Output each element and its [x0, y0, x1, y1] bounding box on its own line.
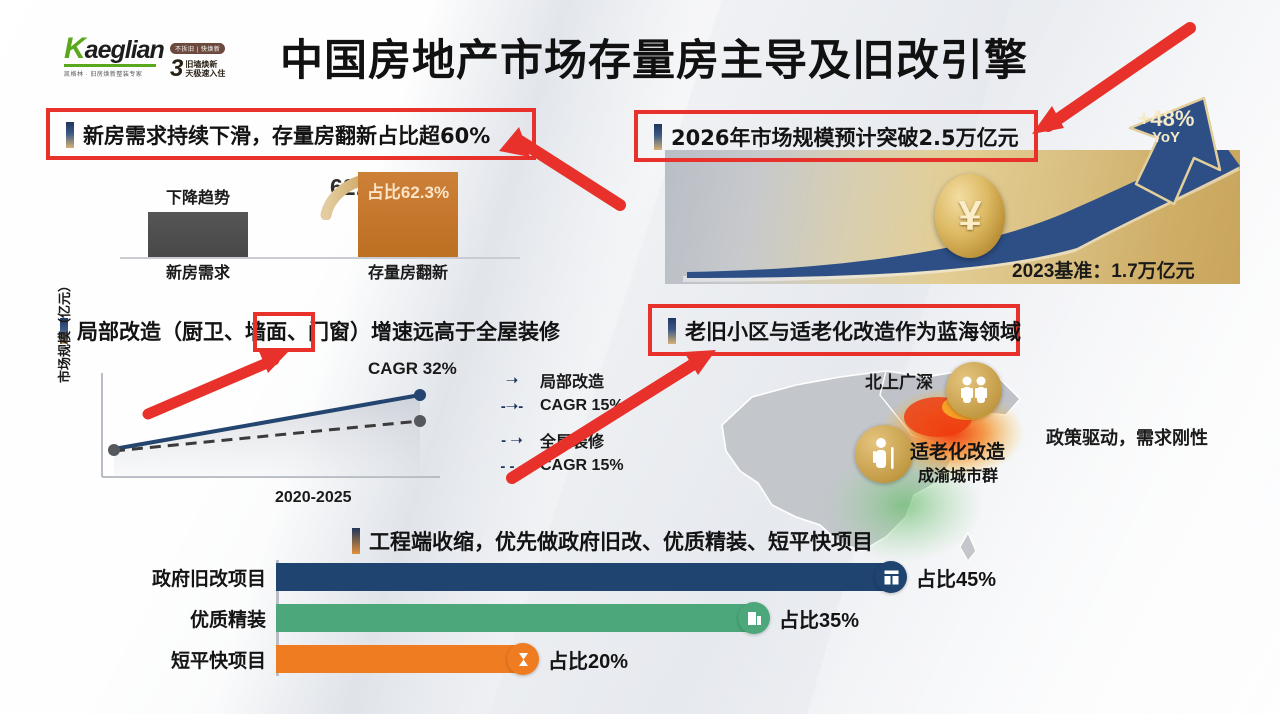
headline-tick-icon [654, 124, 662, 150]
legend-item-partial-reno: ➝ 局部改造 [490, 367, 624, 393]
logo-initial: K [64, 32, 85, 65]
table-row: 优质精装 占比35% [276, 601, 1036, 635]
elderly-person-icon [868, 437, 900, 471]
chart-x-axis-label: 2020-2025 [275, 489, 352, 507]
bar-category-new-housing: 新房需求 [148, 259, 248, 283]
legend-label: 全屋装修 [540, 428, 604, 452]
chart-project-mix: 政府旧改项目 占比45% 优质精装 占比35% [276, 560, 1036, 680]
yuan-symbol: ¥ [958, 192, 981, 240]
map-label-aging-retrofit: 适老化改造 [910, 437, 1005, 464]
pin-tier1-cities [946, 362, 1002, 418]
brand-logo: Kaeglian 凯格林 · 旧房焕新整装专家 [64, 36, 160, 80]
two-people-icon [957, 375, 991, 405]
bar-group-stock-reno: 占比62.3% [358, 172, 458, 257]
promo-badge-number: 3 [170, 58, 183, 80]
bar-category-premium-finish: 优质精装 [190, 605, 266, 632]
headline-tick-icon [668, 318, 676, 344]
bar-gov-renovation [276, 563, 891, 591]
chart-y-axis-label: 市场规模（亿元） [54, 279, 73, 383]
headline-tick-icon [352, 528, 360, 554]
bar-category-quick-project: 短平快项目 [171, 646, 266, 673]
page-title: 中国房地产市场存量房主导及旧改引擎 [280, 26, 1000, 88]
headline-blue-ocean-text: 老旧小区与适老化改造作为蓝海领域 [685, 316, 1021, 346]
apartment-icon [738, 602, 770, 634]
promo-badge-row: 3 旧墙焕新 天极速入住 [170, 58, 240, 80]
headline-tick-icon [66, 122, 74, 148]
pin-aging-retrofit [855, 425, 913, 483]
yoy-value: +48% [1126, 108, 1206, 130]
logo-rest: aeglian [85, 36, 164, 64]
solid-arrow-icon: ➝ [490, 371, 534, 389]
legend-label: CAGR 15% [540, 397, 624, 415]
promo-badge: 不拆旧 | 快焕新 3 旧墙焕新 天极速入住 [170, 38, 240, 80]
bar-category-gov-renovation: 政府旧改项目 [152, 564, 266, 591]
headline-market-size: 2026年市场规模预计突破2.5万亿元 [654, 122, 1019, 152]
slide-canvas: Kaeglian 凯格林 · 旧房焕新整装专家 不拆旧 | 快焕新 3 旧墙焕新… [0, 0, 1280, 714]
promo-badge-line1: 旧墙焕新 [185, 60, 225, 69]
bar-group-new-housing: 下降趋势 [148, 184, 248, 257]
dashed-arrow-icon: - ➝ [490, 431, 534, 449]
headline-stock-demand: 新房需求持续下滑，存量房翻新占比超60% [66, 120, 490, 150]
bar-stock-reno: 占比62.3% [358, 172, 458, 257]
bar-value-stock-reno: 占比62.3% [358, 172, 458, 203]
bar-value-premium-finish: 占比35% [779, 604, 859, 633]
legend-item-cagr-15-a: -➝- CAGR 15% [490, 393, 624, 419]
headline-blue-ocean: 老旧小区与适老化改造作为蓝海领域 [668, 316, 1021, 346]
headline-stock-demand-text: 新房需求持续下滑，存量房翻新占比超60% [83, 120, 490, 150]
bar-value-quick-project: 占比20% [548, 645, 628, 674]
promo-badge-lines: 旧墙焕新 天极速入住 [183, 60, 225, 78]
table-row: 政府旧改项目 占比45% [276, 560, 1036, 594]
logo-wordmark: Kaeglian [64, 36, 160, 63]
legend-item-full-reno: - ➝ 全屋装修 [490, 427, 624, 453]
chart-stock-demand: 下降趋势 新房需求 占比62.3% 存量房翻新 [120, 165, 520, 285]
legend-label: 局部改造 [540, 368, 604, 392]
headline-partial-reno-text: 局部改造（厨卫、墙面、门窗）增速远高于全屋装修 [77, 316, 560, 346]
chart-legend: ➝ 局部改造 -➝- CAGR 15% - ➝ 全屋装修 - - - CAGR … [490, 367, 624, 479]
headline-project-mix-text: 工程端收缩，优先做政府旧改、优质精装、短平快项目 [369, 526, 873, 556]
hourglass-glyph [515, 651, 532, 668]
annotation-box-wall-keyword [253, 312, 315, 352]
apartment-glyph [746, 610, 763, 627]
headline-market-size-text: 2026年市场规模预计突破2.5万亿元 [671, 122, 1019, 152]
chart-partial-reno: 市场规模（亿元） 2020-2025 CAGR 32% ➝ 局部改造 [60, 355, 640, 505]
bar-new-housing [148, 212, 248, 257]
bar-label-new-housing: 下降趋势 [148, 184, 248, 208]
bar-value-gov-renovation: 占比45% [916, 563, 996, 592]
hourglass-icon [507, 643, 539, 675]
map-label-aging-region: 成渝城市群 [918, 462, 998, 486]
chart-plot-area [100, 373, 490, 485]
building-icon [875, 561, 907, 593]
logo-subtitle: 凯格林 · 旧房焕新整装专家 [64, 69, 160, 78]
legend-item-cagr-15-b: - - - CAGR 15% [490, 453, 624, 479]
promo-badge-pill: 不拆旧 | 快焕新 [170, 43, 225, 54]
market-size-baseline: 2023基准：1.7万亿元 [1012, 256, 1195, 283]
bar-category-stock-reno: 存量房翻新 [358, 259, 458, 283]
headline-project-mix: 工程端收缩，优先做政府旧改、优质精装、短平快项目 [352, 526, 873, 556]
table-row: 短平快项目 占比20% [276, 642, 1036, 676]
map-note-policy: 政策驱动，需求刚性 [1046, 424, 1208, 450]
dashed-line-icon: - - - [490, 458, 534, 475]
promo-badge-line2: 天极速入住 [185, 69, 225, 78]
building-glyph [883, 569, 900, 586]
yoy-unit: YoY [1126, 130, 1206, 146]
bar-quick-project [276, 645, 523, 673]
yuan-coin-icon: ¥ [935, 174, 1005, 258]
dashed-arrow-icon: -➝- [490, 397, 534, 415]
legend-label: CAGR 15% [540, 457, 624, 475]
bar-premium-finish [276, 604, 754, 632]
map-label-tier1-cities: 北上广深 [865, 368, 933, 393]
yoy-callout: +48% YoY [1126, 108, 1206, 146]
